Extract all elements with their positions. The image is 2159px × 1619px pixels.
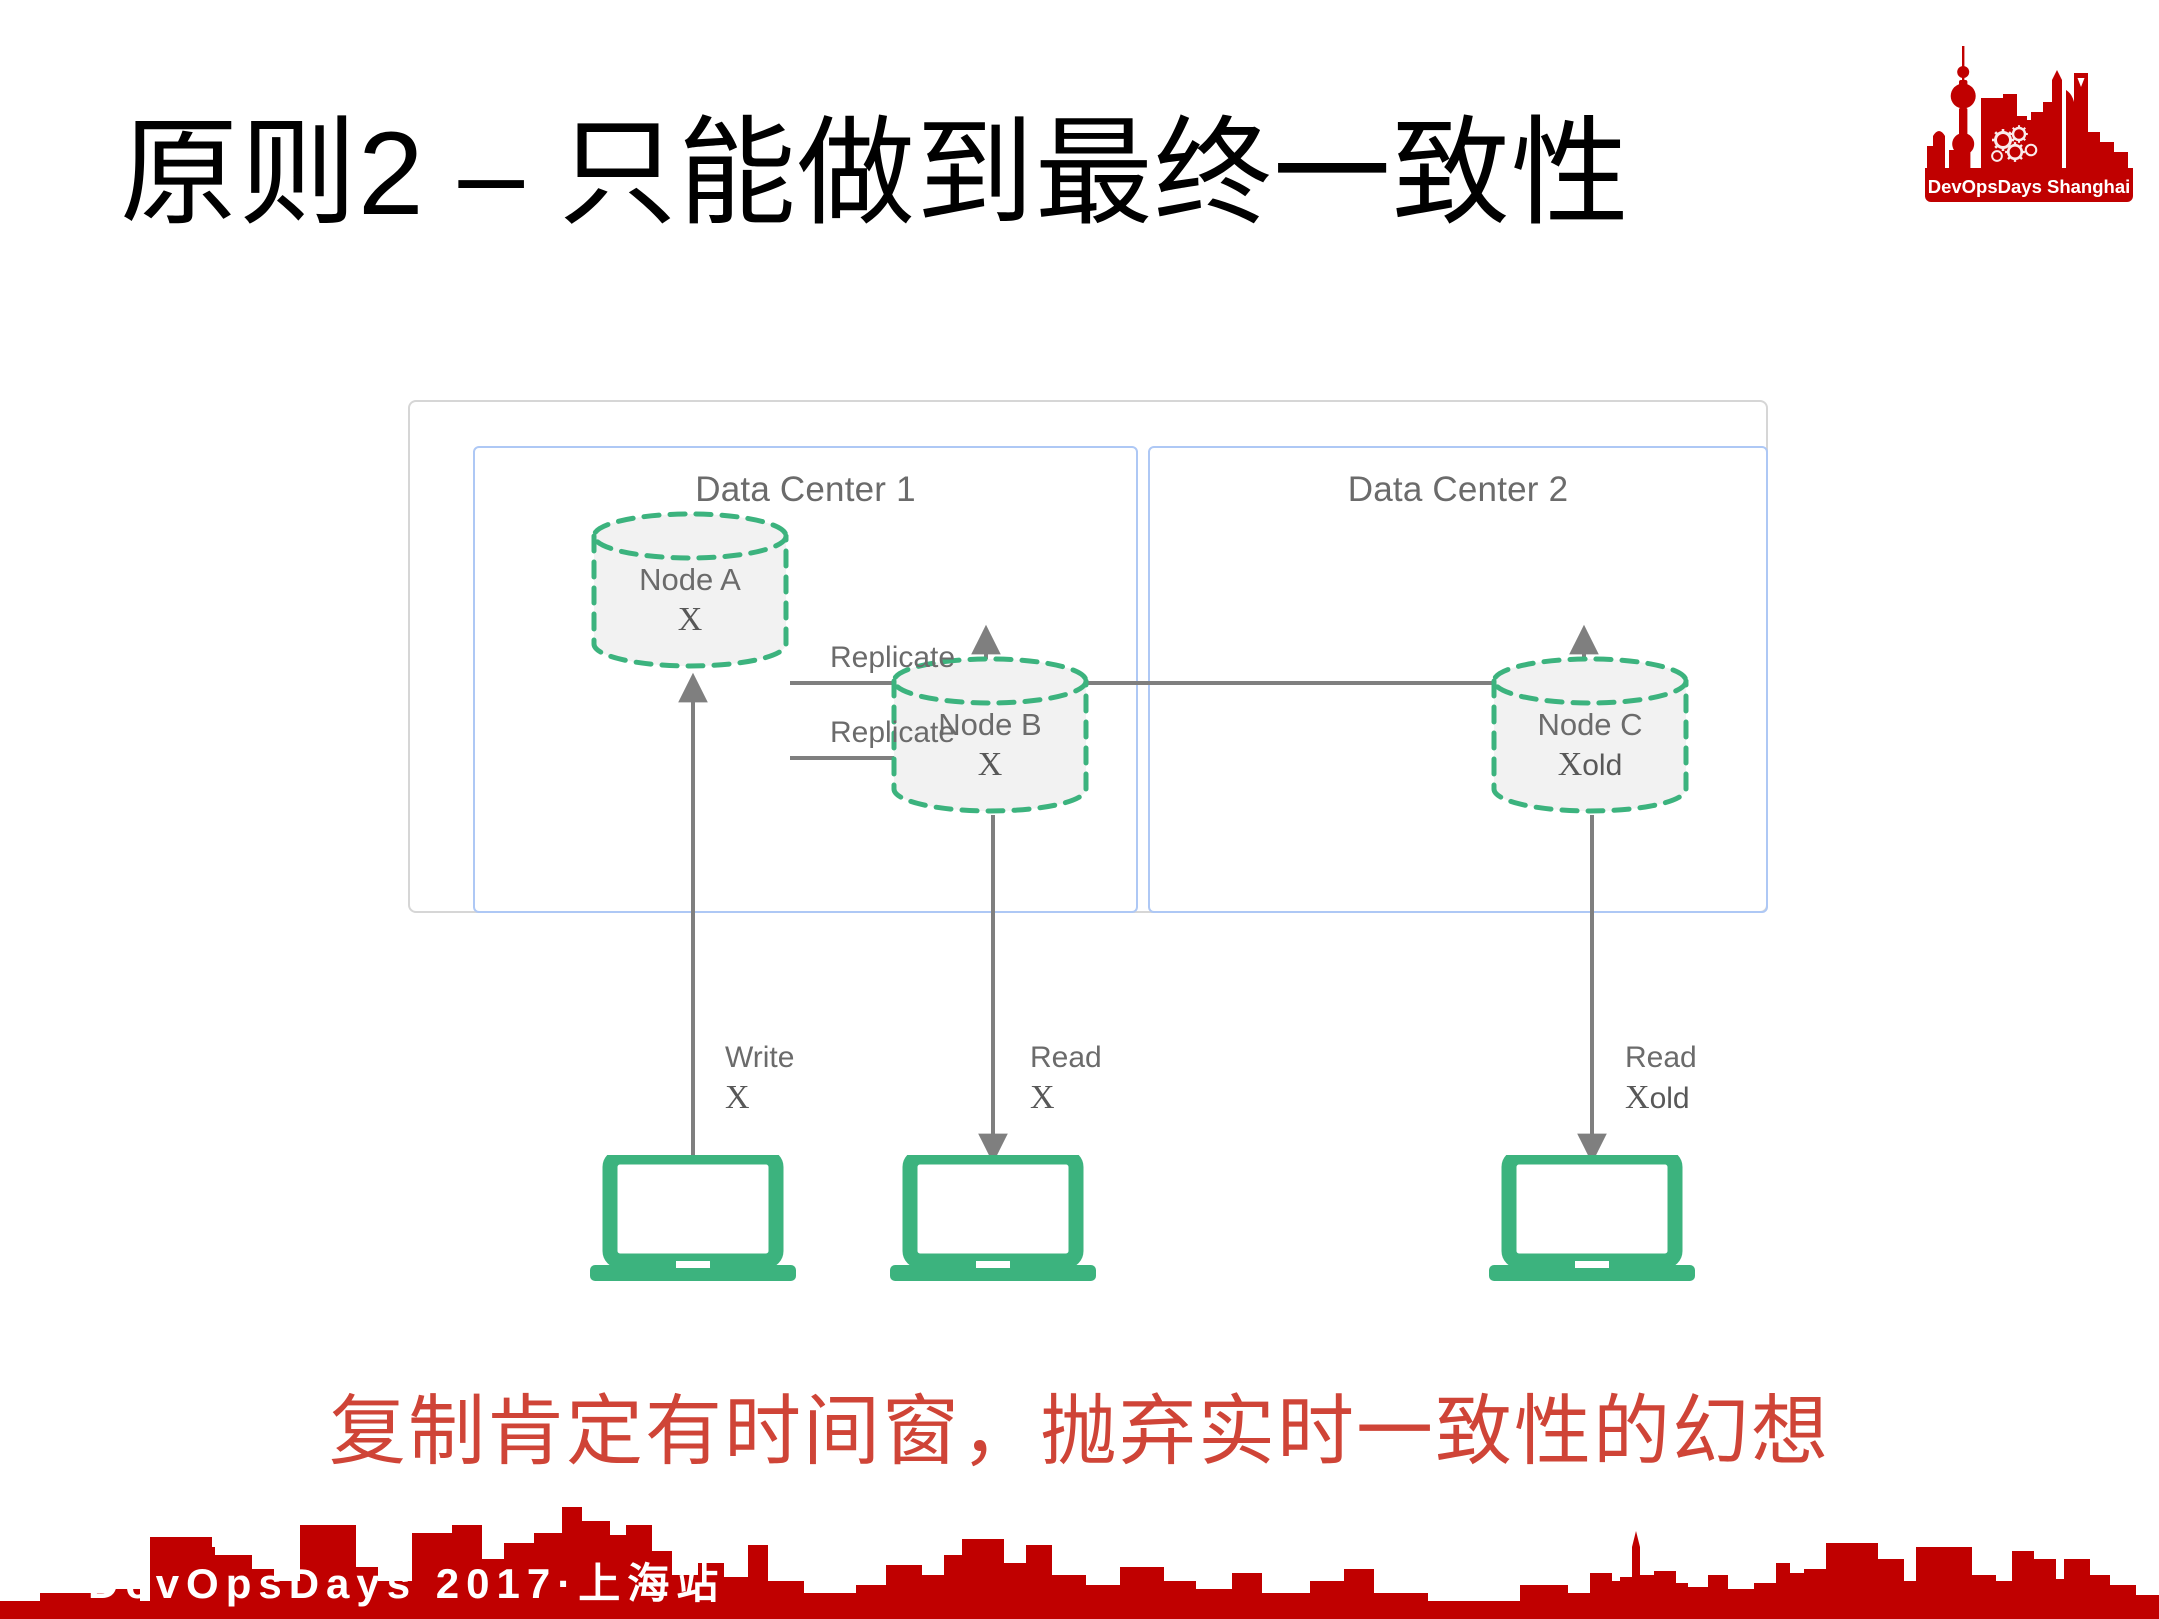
slide-canvas: 原则2 – 只能做到最终一致性	[0, 0, 2159, 1619]
edge-label-value: X	[1030, 1077, 1102, 1118]
laptop-icon-read-client-b	[888, 1155, 1098, 1283]
edge-label-replicate-to-b: Replicate	[830, 715, 955, 752]
node-a-cylinder: Node A X	[590, 510, 790, 670]
footer-text: DevOpsDays 2017·上海站	[88, 1550, 725, 1611]
edge-label-text: Write	[725, 1041, 794, 1074]
page-title: 原则2 – 只能做到最终一致性	[120, 108, 1900, 240]
edge-label-value: Xold	[1625, 1077, 1697, 1118]
footer-skyline: DevOpsDays 2017·上海站	[0, 1489, 2159, 1619]
edge-label-text: Replicate	[830, 641, 955, 674]
edge-label-read-c: Read Xold	[1625, 1040, 1697, 1118]
logo-text: DevOpsDays Shanghai	[1921, 176, 2137, 198]
edge-label-write: Write X	[725, 1040, 794, 1118]
node-c-cylinder: Node C Xold	[1490, 655, 1690, 815]
edge-label-replicate-to-c: Replicate	[830, 640, 955, 677]
edge-label-read-b: Read X	[1030, 1040, 1102, 1118]
datacenter-1-title: Data Center 1	[475, 470, 1136, 510]
edge-label-text: Replicate	[830, 716, 955, 749]
edge-label-text: Read	[1625, 1041, 1697, 1074]
laptop-icon-read-client-c	[1487, 1155, 1697, 1283]
edge-label-text: Read	[1030, 1041, 1102, 1074]
devopsdays-shanghai-logo: DevOpsDays Shanghai	[1921, 28, 2137, 204]
edge-label-value: X	[725, 1077, 794, 1118]
datacenter-2-title: Data Center 2	[1150, 470, 1766, 510]
takeaway-text: 复制肯定有时间窗，抛弃实时一致性的幻想	[0, 1370, 2159, 1481]
laptop-icon-write-client	[588, 1155, 798, 1283]
